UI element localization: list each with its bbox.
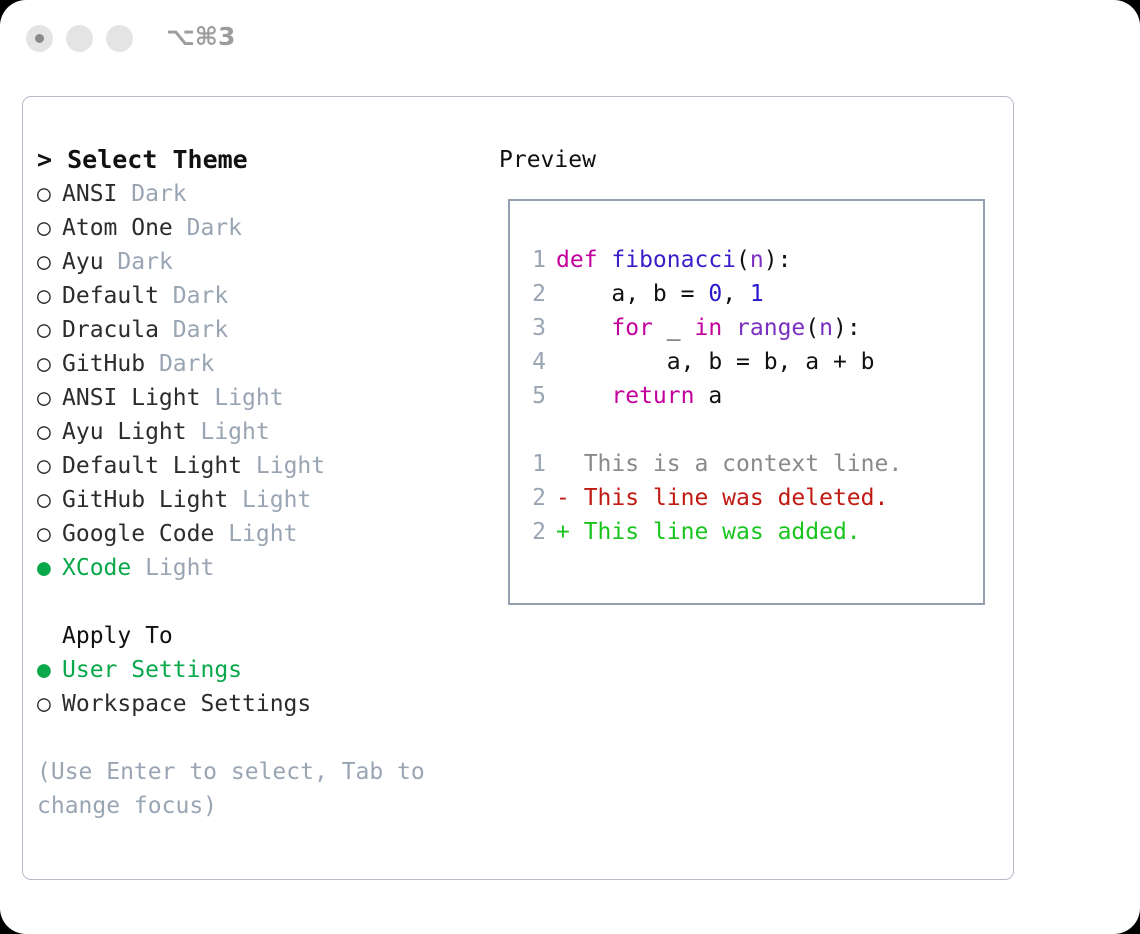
code-token: a, b = — [556, 281, 708, 307]
code-token — [722, 315, 736, 341]
diff-line: 2+ This line was added. — [522, 515, 982, 549]
app-window: ⌥⌘3 > Select Theme ○ANSI Dark○Atom One D… — [0, 0, 1140, 934]
theme-gap — [187, 419, 201, 445]
theme-kind-label: Dark — [159, 351, 214, 377]
diff-sign: - — [556, 485, 570, 511]
theme-gap — [131, 555, 145, 581]
radio-unselected-icon: ○ — [37, 415, 62, 449]
diff-line-number: 2 — [522, 481, 546, 515]
theme-kind-label: Light — [145, 555, 214, 581]
radio-unselected-icon: ○ — [37, 381, 62, 415]
theme-gap — [200, 385, 214, 411]
theme-name: ANSI Light — [62, 385, 200, 411]
code-line-number: 4 — [522, 345, 546, 379]
theme-gap — [214, 521, 228, 547]
radio-unselected-icon: ○ — [37, 279, 62, 313]
theme-name: Google Code — [62, 521, 214, 547]
code-line-number: 2 — [522, 277, 546, 311]
apply-to-options[interactable]: ●User Settings○Workspace Settings — [37, 653, 477, 721]
theme-kind-label: Light — [228, 521, 297, 547]
theme-gap — [104, 249, 118, 275]
theme-list-item[interactable]: ○ANSI Dark — [37, 177, 477, 211]
code-token: ( — [805, 315, 819, 341]
theme-gap — [117, 181, 131, 207]
theme-gap — [173, 215, 187, 241]
code-token: n — [750, 247, 764, 273]
code-token: n — [819, 315, 833, 341]
theme-list-item[interactable]: ○Default Dark — [37, 279, 477, 313]
radio-unselected-icon: ○ — [37, 245, 62, 279]
theme-gap — [242, 453, 256, 479]
diff-text: This line was added. — [570, 519, 861, 545]
apply-to-option[interactable]: ●User Settings — [37, 653, 477, 687]
apply-to-option[interactable]: ○Workspace Settings — [37, 687, 477, 721]
theme-list-item[interactable]: ○GitHub Light Light — [37, 483, 477, 517]
diff-line-number: 1 — [522, 447, 546, 481]
theme-gap — [145, 351, 159, 377]
window-dot-3[interactable] — [106, 25, 133, 52]
code-token — [556, 383, 611, 409]
keyboard-shortcut-label: ⌥⌘3 — [166, 22, 235, 51]
theme-list-item[interactable]: ○Dracula Dark — [37, 313, 477, 347]
code-token: in — [694, 315, 722, 341]
code-line: 5 return a — [522, 379, 982, 413]
radio-unselected-icon: ○ — [37, 347, 62, 381]
apply-to-header: Apply To — [37, 619, 477, 653]
theme-list-item[interactable]: ○Google Code Light — [37, 517, 477, 551]
code-token: _ — [653, 315, 695, 341]
theme-kind-label: Dark — [117, 249, 172, 275]
diff-text: This is a context line. — [570, 451, 902, 477]
theme-name: Default Light — [62, 453, 242, 479]
diff-text: This line was deleted. — [570, 485, 889, 511]
diff-line: 2- This line was deleted. — [522, 481, 982, 515]
theme-list-column: > Select Theme ○ANSI Dark○Atom One Dark○… — [37, 143, 477, 823]
keyboard-hint-text: (Use Enter to select, Tab to change focu… — [37, 755, 437, 823]
code-token: a, b = b, a + b — [556, 349, 875, 375]
code-line: 2 a, b = 0, 1 — [522, 277, 982, 311]
code-token: for — [611, 315, 653, 341]
theme-kind-label: Dark — [173, 317, 228, 343]
radio-unselected-icon: ○ — [37, 313, 62, 347]
theme-gap — [228, 487, 242, 513]
theme-kind-label: Dark — [187, 215, 242, 241]
code-diff-gap — [522, 413, 982, 447]
code-line-number: 3 — [522, 311, 546, 345]
title-bar: ⌥⌘3 — [0, 0, 1140, 78]
code-token: range — [736, 315, 805, 341]
theme-name: Ayu Light — [62, 419, 187, 445]
code-line: 1def fibonacci(n): — [522, 243, 982, 277]
theme-name: ANSI — [62, 181, 117, 207]
radio-unselected-icon: ○ — [37, 517, 62, 551]
section-spacer — [37, 585, 477, 619]
theme-name: Dracula — [62, 317, 159, 343]
code-token: a — [694, 383, 722, 409]
diff-sign: + — [556, 519, 570, 545]
code-token: , — [722, 281, 750, 307]
select-theme-header: > Select Theme — [37, 143, 477, 177]
diff-lines: 1 This is a context line.2- This line wa… — [522, 447, 982, 549]
theme-kind-label: Light — [242, 487, 311, 513]
code-token: ): — [764, 247, 792, 273]
theme-list-item[interactable]: ○GitHub Dark — [37, 347, 477, 381]
radio-selected-icon: ● — [37, 551, 62, 585]
code-line-number: 1 — [522, 243, 546, 277]
theme-name: Default — [62, 283, 159, 309]
window-dot-active-inner — [35, 34, 44, 43]
theme-list-item[interactable]: ○Ayu Dark — [37, 245, 477, 279]
theme-name: GitHub Light — [62, 487, 228, 513]
code-token — [556, 315, 611, 341]
code-line-number: 5 — [522, 379, 546, 413]
radio-unselected-icon: ○ — [37, 483, 62, 517]
radio-unselected-icon: ○ — [37, 449, 62, 483]
theme-kind-label: Dark — [131, 181, 186, 207]
theme-gap — [159, 283, 173, 309]
theme-name: Ayu — [62, 249, 104, 275]
theme-list-item[interactable]: ●XCode Light — [37, 551, 477, 585]
code-token: return — [611, 383, 694, 409]
code-line: 4 a, b = b, a + b — [522, 345, 982, 379]
radio-unselected-icon: ○ — [37, 211, 62, 245]
diff-sign — [556, 451, 570, 477]
theme-list-item[interactable]: ○Ayu Light Light — [37, 415, 477, 449]
preview-box: 1def fibonacci(n):2 a, b = 0, 13 for _ i… — [508, 199, 985, 605]
code-sample: 1def fibonacci(n):2 a, b = 0, 13 for _ i… — [522, 243, 982, 549]
theme-list-item[interactable]: ○Atom One Dark — [37, 211, 477, 245]
theme-kind-label: Light — [200, 419, 269, 445]
diff-line-number: 2 — [522, 515, 546, 549]
theme-name: XCode — [62, 555, 131, 581]
window-dot-active[interactable] — [26, 25, 53, 52]
radio-unselected-icon: ○ — [37, 177, 62, 211]
radio-selected-icon: ● — [37, 653, 62, 687]
code-line: 3 for _ in range(n): — [522, 311, 982, 345]
preview-header: Preview — [499, 143, 999, 177]
code-token: 0 — [708, 281, 722, 307]
radio-unselected-icon: ○ — [37, 687, 62, 721]
theme-list-item[interactable]: ○ANSI Light Light — [37, 381, 477, 415]
apply-to-option-label: User Settings — [62, 657, 242, 683]
code-token: ): — [833, 315, 861, 341]
theme-kind-label: Dark — [173, 283, 228, 309]
theme-selector-panel: > Select Theme ○ANSI Dark○Atom One Dark○… — [22, 96, 1014, 880]
code-token: def — [556, 247, 611, 273]
window-dot-2[interactable] — [66, 25, 93, 52]
code-token: fibonacci — [611, 247, 736, 273]
theme-kind-label: Light — [256, 453, 325, 479]
theme-kind-label: Light — [214, 385, 283, 411]
diff-line: 1 This is a context line. — [522, 447, 982, 481]
code-token: ( — [736, 247, 750, 273]
theme-gap — [159, 317, 173, 343]
code-lines: 1def fibonacci(n):2 a, b = 0, 13 for _ i… — [522, 243, 982, 413]
theme-list-item[interactable]: ○Default Light Light — [37, 449, 477, 483]
theme-name: GitHub — [62, 351, 145, 377]
apply-to-option-label: Workspace Settings — [62, 691, 311, 717]
theme-list[interactable]: ○ANSI Dark○Atom One Dark○Ayu Dark○Defaul… — [37, 177, 477, 585]
preview-column: Preview 1def fibonacci(n):2 a, b = 0, 13… — [499, 143, 999, 177]
theme-name: Atom One — [62, 215, 173, 241]
code-token: 1 — [750, 281, 764, 307]
